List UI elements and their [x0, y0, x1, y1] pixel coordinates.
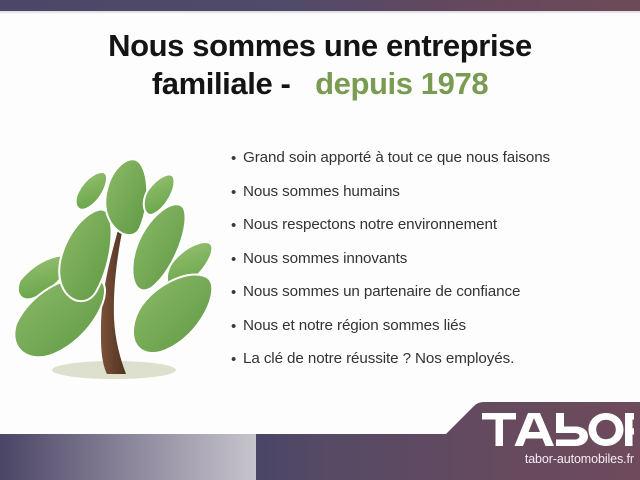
- list-item-label: Nous sommes innovants: [243, 249, 407, 269]
- list-item: • Nous sommes innovants: [231, 249, 631, 270]
- tree-icon: [8, 152, 220, 390]
- list-item: • Nous et notre région sommes liés: [231, 316, 631, 337]
- top-accent-bar-shadow: [0, 11, 640, 14]
- top-accent-bar: [0, 0, 640, 11]
- bullet-dot-icon: •: [231, 317, 243, 337]
- bullet-dot-icon: •: [231, 350, 243, 370]
- list-item: • Nous sommes humains: [231, 182, 631, 203]
- website-url: tabor-automobiles.fr: [0, 452, 634, 466]
- list-item: • Nous respectons notre environnement: [231, 215, 631, 236]
- list-item-label: Nous sommes un partenaire de confiance: [243, 282, 520, 302]
- headline-line-2-black: familiale -: [152, 66, 291, 101]
- tree-illustration: [8, 152, 220, 390]
- bullet-dot-icon: •: [231, 250, 243, 270]
- list-item: • La clé de notre réussite ? Nos employé…: [231, 349, 631, 370]
- list-item-label: La clé de notre réussite ? Nos employés.: [243, 349, 514, 369]
- headline-line-2: familiale - depuis 1978: [0, 65, 640, 103]
- benefits-list: • Grand soin apporté à tout ce que nous …: [231, 148, 631, 383]
- page-title: Nous sommes une entreprise familiale - d…: [0, 27, 640, 103]
- list-item: • Nous sommes un partenaire de confiance: [231, 282, 631, 303]
- bullet-dot-icon: •: [231, 183, 243, 203]
- list-item-label: Nous respectons notre environnement: [243, 215, 497, 235]
- tabor-logo: [482, 413, 634, 446]
- list-item-label: Grand soin apporté à tout ce que nous fa…: [243, 148, 550, 168]
- bullet-dot-icon: •: [231, 216, 243, 236]
- slide-canvas: Nous sommes une entreprise familiale - d…: [0, 0, 640, 480]
- list-item-label: Nous et notre région sommes liés: [243, 316, 466, 336]
- bullet-dot-icon: •: [231, 149, 243, 169]
- list-item-label: Nous sommes humains: [243, 182, 400, 202]
- list-item: • Grand soin apporté à tout ce que nous …: [231, 148, 631, 169]
- headline-line-1: Nous sommes une entreprise: [108, 28, 532, 63]
- tabor-wordmark-icon: [482, 413, 634, 446]
- bullet-dot-icon: •: [231, 283, 243, 303]
- headline-line-2-green: depuis 1978: [315, 66, 488, 101]
